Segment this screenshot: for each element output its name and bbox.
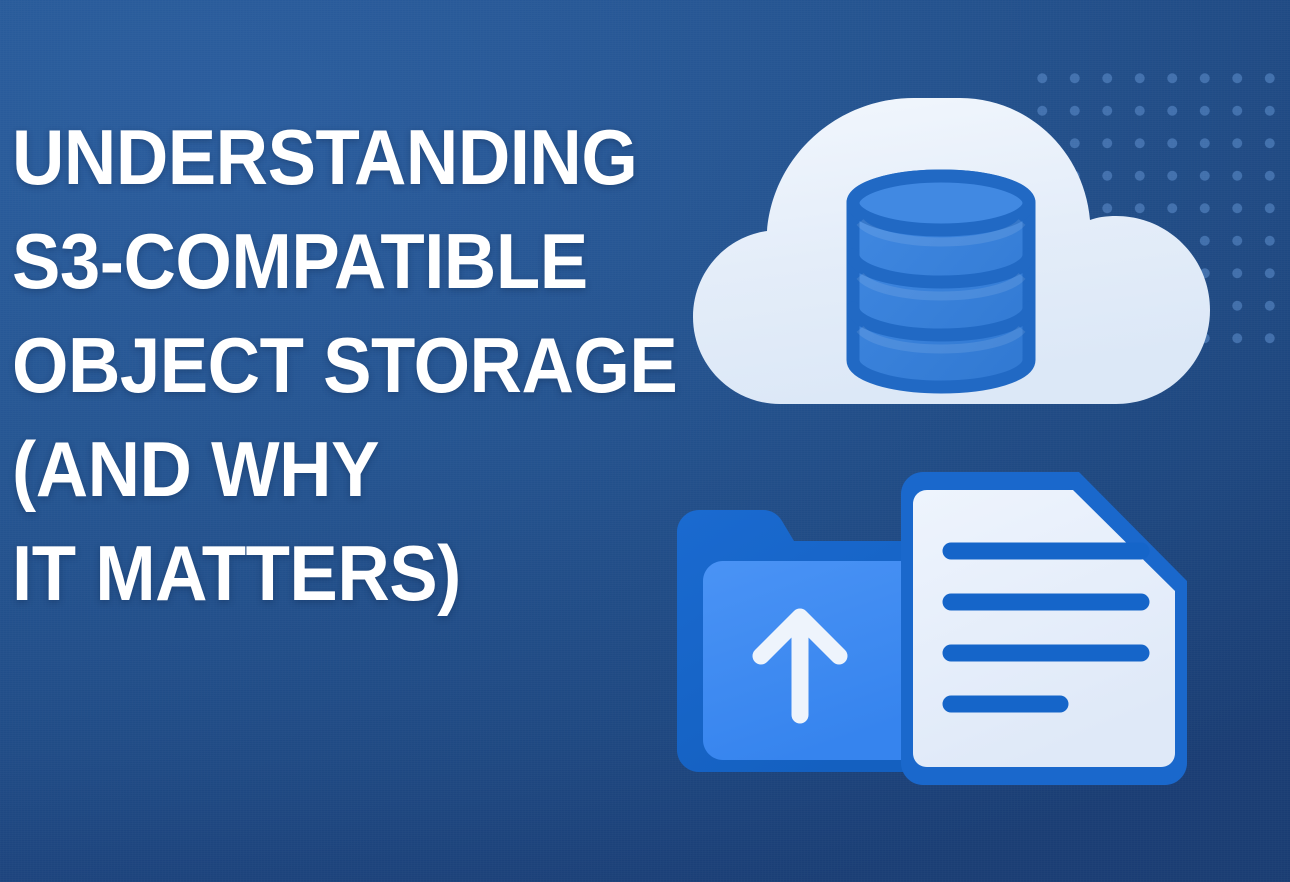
page-title-line-1: UNDERSTANDING — [12, 105, 663, 209]
page-title-line-3: OBJECT STORAGE — [12, 313, 663, 417]
folder-upload-icon — [677, 510, 935, 772]
page-title-line-4: (AND WHY — [12, 417, 663, 521]
folder-document-group — [655, 450, 1215, 810]
page-title: UNDERSTANDING S3-COMPATIBLE OBJECT STORA… — [12, 105, 663, 625]
poster-canvas: UNDERSTANDING S3-COMPATIBLE OBJECT STORA… — [0, 0, 1290, 882]
database-cylinder — [853, 176, 1029, 387]
document-icon — [901, 472, 1187, 785]
cloud-database-icon — [660, 80, 1250, 450]
page-title-line-2: S3-COMPATIBLE — [12, 209, 663, 313]
page-title-line-5: IT MATTERS) — [12, 521, 663, 625]
